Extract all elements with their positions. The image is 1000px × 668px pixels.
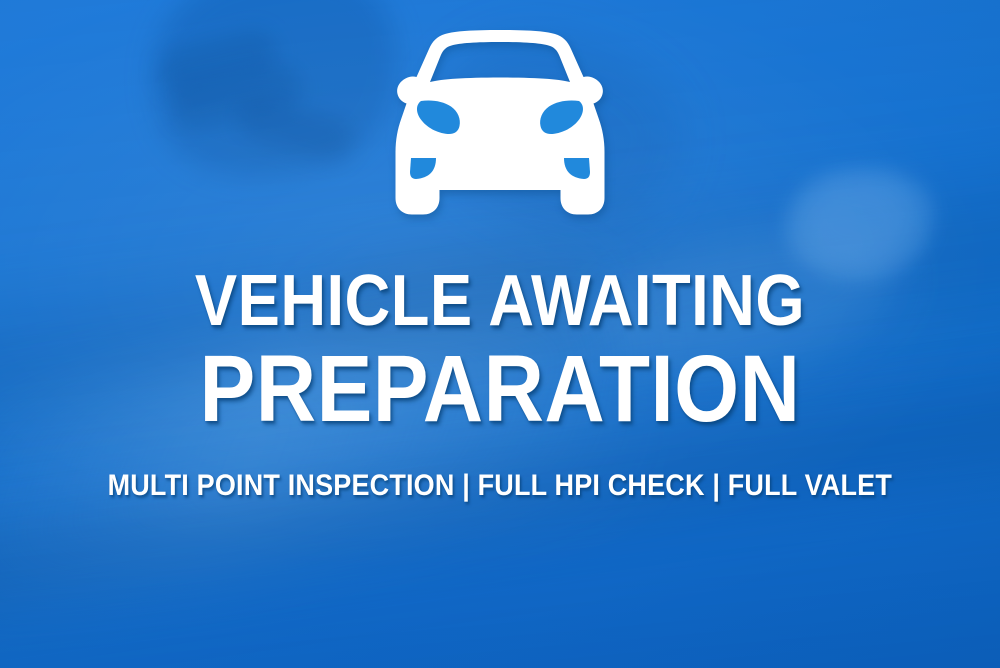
headline-line-1: VEHICLE AWAITING: [60, 267, 940, 336]
banner-content: VEHICLE AWAITING PREPARATION MULTI POINT…: [0, 0, 1000, 668]
headline-line-2: PREPARATION: [60, 344, 940, 435]
car-front-icon: [369, 22, 631, 227]
services-subtitle: MULTI POINT INSPECTION | FULL HPI CHECK …: [108, 469, 892, 503]
vehicle-preparation-banner: VEHICLE AWAITING PREPARATION MULTI POINT…: [0, 0, 1000, 668]
headline-block: VEHICLE AWAITING PREPARATION: [0, 267, 1000, 435]
